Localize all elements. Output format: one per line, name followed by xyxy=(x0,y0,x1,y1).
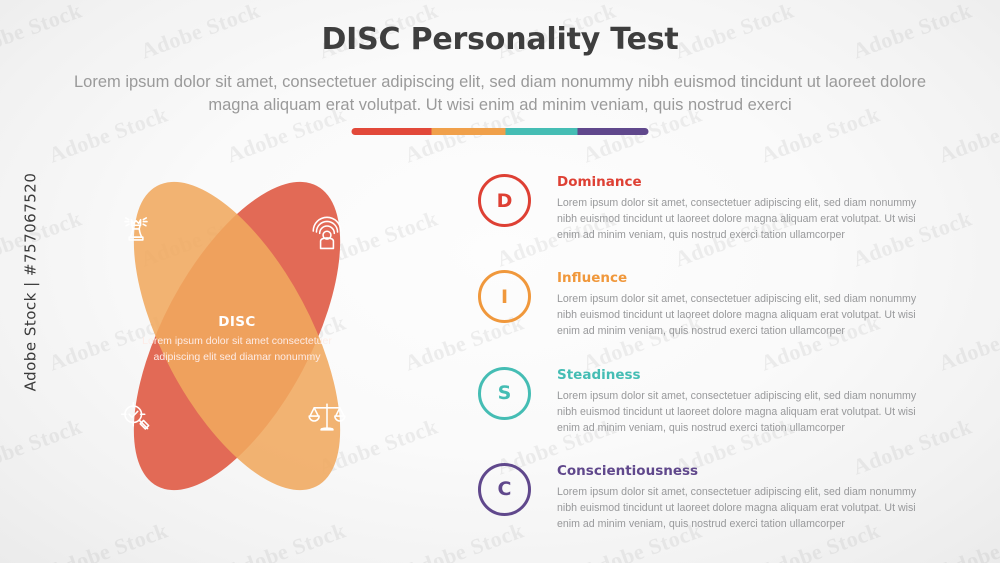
watermark-left-label: Adobe Stock | #757067520 xyxy=(21,172,39,391)
trait-description: Lorem ipsum dolor sit amet, consectetuer… xyxy=(557,195,929,243)
disc-trait-list: DDominanceLorem ipsum dolor sit amet, co… xyxy=(478,172,948,532)
venn-center-label: DISC Lorem ipsum dolor sit amet consecte… xyxy=(137,314,337,366)
balance-scale-icon xyxy=(305,395,349,439)
watermark-tile: Adobe Stock xyxy=(223,517,349,563)
venn-center-description: Lorem ipsum dolor sit amet consectetuer … xyxy=(137,334,337,366)
trait-description: Lorem ipsum dolor sit amet, consectetuer… xyxy=(557,388,929,436)
trait-body: ConscientiousnessLorem ipsum dolor sit a… xyxy=(557,461,948,532)
page-title: DISC Personality Test xyxy=(0,22,1000,57)
colorbar-segment-conscientiousness xyxy=(577,128,648,135)
colorbar-segment-dominance xyxy=(352,128,432,135)
list-item[interactable]: IInfluenceLorem ipsum dolor sit amet, co… xyxy=(478,268,948,339)
venn-center-title: DISC xyxy=(137,314,337,330)
header: DISC Personality Test Lorem ipsum dolor … xyxy=(0,22,1000,118)
trait-badge-i[interactable]: I xyxy=(478,270,531,323)
list-item[interactable]: SSteadinessLorem ipsum dolor sit amet, c… xyxy=(478,365,948,436)
page-subtitle: Lorem ipsum dolor sit amet, consectetuer… xyxy=(70,71,930,118)
trait-title: Influence xyxy=(557,270,948,286)
chess-queen-icon xyxy=(114,206,158,250)
trait-badge-s[interactable]: S xyxy=(478,367,531,420)
trait-title: Conscientiousness xyxy=(557,463,948,479)
disc-venn-diagram: DISC Lorem ipsum dolor sit amet consecte… xyxy=(62,163,412,508)
trait-body: InfluenceLorem ipsum dolor sit amet, con… xyxy=(557,268,948,339)
colorbar-segment-steadiness xyxy=(506,128,577,135)
trait-body: DominanceLorem ipsum dolor sit amet, con… xyxy=(557,172,948,243)
trait-description: Lorem ipsum dolor sit amet, consectetuer… xyxy=(557,484,929,532)
trait-title: Steadiness xyxy=(557,367,948,383)
trait-description: Lorem ipsum dolor sit amet, consectetuer… xyxy=(557,291,929,339)
trait-title: Dominance xyxy=(557,174,948,190)
list-item[interactable]: DDominanceLorem ipsum dolor sit amet, co… xyxy=(478,172,948,243)
color-legend-bar xyxy=(352,128,649,135)
trait-badge-c[interactable]: C xyxy=(478,463,531,516)
trait-body: SteadinessLorem ipsum dolor sit amet, co… xyxy=(557,365,948,436)
list-item[interactable]: CConscientiousnessLorem ipsum dolor sit … xyxy=(478,461,948,532)
person-broadcast-icon xyxy=(305,215,349,259)
trait-badge-d[interactable]: D xyxy=(478,174,531,227)
colorbar-segment-influence xyxy=(432,128,506,135)
magnifier-check-icon xyxy=(114,395,158,439)
watermark-tile: Adobe Stock xyxy=(45,517,171,563)
